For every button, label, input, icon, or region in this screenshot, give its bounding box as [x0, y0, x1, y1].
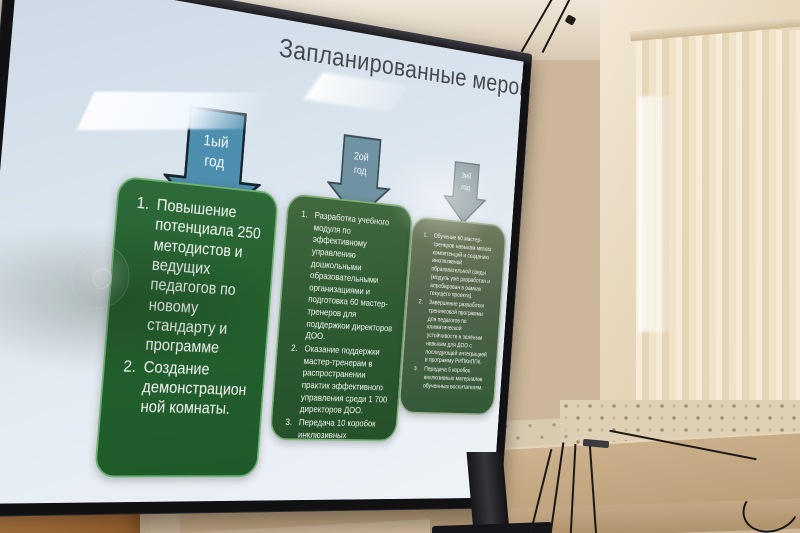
list-item-text: Оказание поддержки мастер-тренерам в рас…: [299, 343, 393, 418]
screen-reflection-shadow: [0, 218, 278, 377]
list-item-number: 3.: [277, 417, 293, 442]
list-item: 2. Завершение разработки тренинговой про…: [410, 297, 492, 367]
list-item: 3. Передача 10 коробок инклюзивных матер…: [277, 417, 388, 442]
display-stand-neck: [467, 452, 510, 532]
list-item-text: Завершение разработки тренинговой програ…: [425, 298, 493, 367]
list-item-text: Передача 5 коробок инклюзивных материало…: [423, 365, 488, 392]
display-screen[interactable]: Запланированные мероприятия 1ый год 2ой …: [0, 0, 523, 504]
year-2-list: 1. Разработка учебного модуля по эффекти…: [277, 208, 403, 441]
room-photo-scene: Запланированные мероприятия 1ый год 2ой …: [0, 0, 800, 533]
list-item-number: 3.: [408, 364, 418, 389]
year-3-list: 1. Обучение 60 мастер-тренеров навыкам м…: [408, 230, 497, 392]
list-item-text: Передача 10 коробок инклюзивных материал…: [296, 417, 388, 441]
list-item: 3. Передача 5 коробок инклюзивных матери…: [408, 364, 488, 392]
list-item-number: 2.: [410, 297, 423, 364]
list-item-number: 1.: [286, 208, 308, 342]
screen-glare-lamp-reflection: [77, 92, 269, 131]
list-item-number: 2.: [280, 343, 298, 417]
list-item: 2. Оказание поддержки мастер-тренерам в …: [280, 343, 393, 419]
presentation-display[interactable]: Запланированные мероприятия 1ый год 2ой …: [0, 0, 532, 517]
screen-glare-soft: [382, 140, 504, 253]
curtain-daylight-glow: [638, 96, 672, 332]
